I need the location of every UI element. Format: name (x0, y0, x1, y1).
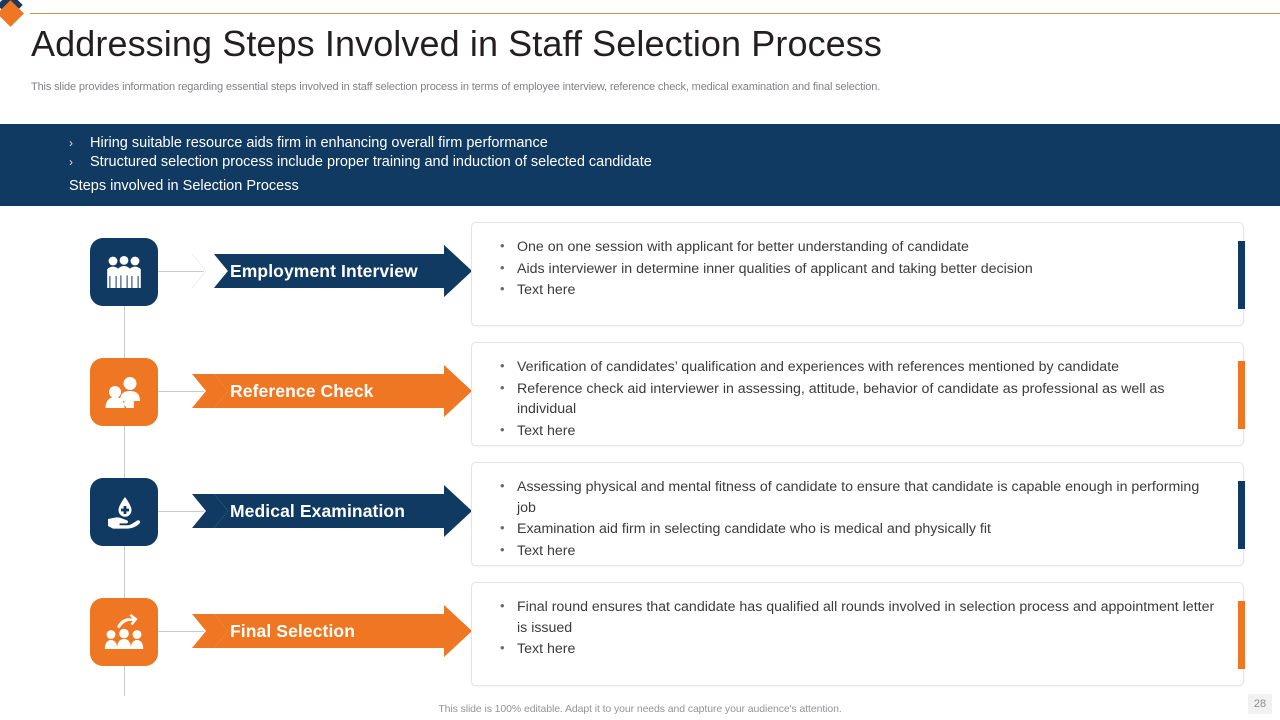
page-title: Addressing Steps Involved in Staff Selec… (31, 23, 882, 65)
step-icon-tile[interactable] (90, 238, 158, 306)
two-people-check-icon (104, 375, 144, 409)
card-accent-bar (1238, 361, 1245, 429)
step-arrow-banner[interactable]: Employment Interview (192, 244, 472, 298)
step-bullet-text: One on one session with applicant for be… (517, 239, 969, 255)
step-bullet-item: •One on one session with applicant for b… (498, 237, 1217, 258)
bullet-dot-icon: • (500, 420, 505, 441)
page-number-badge: 28 (1248, 694, 1272, 714)
step-detail-card: •Final round ensures that candidate has … (471, 582, 1244, 686)
step-detail-card: •Verification of candidates’ qualificati… (471, 342, 1244, 446)
process-step-row: Final Selection •Final round ensures tha… (0, 582, 1280, 702)
step-label: Employment Interview (230, 244, 418, 298)
bullet-dot-icon: • (500, 258, 505, 279)
step-icon-tile[interactable] (90, 478, 158, 546)
step-bullet-item: •Final round ensures that candidate has … (498, 597, 1217, 638)
step-bullet-item: •Examination aid firm in selecting candi… (498, 519, 1217, 540)
banner-bullet-item: › Structured selection process include p… (68, 153, 652, 172)
step-icon-tile[interactable] (90, 358, 158, 426)
three-people-icon (104, 255, 144, 289)
chevron-right-icon: › (69, 153, 73, 172)
footer-note: This slide is 100% editable. Adapt it to… (0, 703, 1280, 715)
card-accent-bar (1238, 241, 1245, 309)
step-bullet-text: Final round ensures that candidate has q… (517, 599, 1214, 636)
step-bullet-item: •Text here (498, 421, 1217, 442)
bullet-dot-icon: • (500, 518, 505, 539)
step-label: Medical Examination (230, 484, 405, 538)
step-bullet-list: •Final round ensures that candidate has … (472, 583, 1243, 660)
header-accent-rule (30, 13, 1280, 14)
step-bullet-text: Examination aid firm in selecting candid… (517, 521, 991, 537)
step-detail-card: •One on one session with applicant for b… (471, 222, 1244, 326)
process-step-row: Reference Check •Verification of candida… (0, 342, 1280, 462)
step-bullet-item: •Text here (498, 280, 1217, 301)
banner-bullet-list: › Hiring suitable resource aids firm in … (68, 134, 652, 172)
diamond-logo-icon (0, 0, 30, 28)
step-bullet-item: •Aids interviewer in determine inner qua… (498, 259, 1217, 280)
card-accent-bar (1238, 601, 1245, 669)
banner-bullet-text: Structured selection process include pro… (90, 154, 652, 170)
step-bullet-text: Reference check aid interviewer in asses… (517, 381, 1164, 418)
step-bullet-list: •Assessing physical and mental fitness o… (472, 463, 1243, 561)
step-bullet-text: Verification of candidates’ qualificatio… (517, 359, 1119, 375)
step-bullet-list: •Verification of candidates’ qualificati… (472, 343, 1243, 441)
bullet-dot-icon: • (500, 279, 505, 300)
process-step-row: Employment Interview •One on one session… (0, 222, 1280, 342)
step-arrow-banner[interactable]: Final Selection (192, 604, 472, 658)
intro-banner: › Hiring suitable resource aids firm in … (0, 124, 1280, 206)
bullet-dot-icon: • (500, 236, 505, 257)
step-bullet-text: Text here (517, 423, 575, 439)
bullet-dot-icon: • (500, 540, 505, 561)
bullet-dot-icon: • (500, 356, 505, 377)
card-accent-bar (1238, 481, 1245, 549)
people-growth-arrow-icon (103, 614, 145, 650)
step-bullet-list: •One on one session with applicant for b… (472, 223, 1243, 301)
process-step-row: Medical Examination •Assessing physical … (0, 462, 1280, 582)
bullet-dot-icon: • (500, 476, 505, 497)
chevron-right-icon: › (69, 134, 73, 153)
step-arrow-banner[interactable]: Medical Examination (192, 484, 472, 538)
step-bullet-item: •Text here (498, 541, 1217, 562)
bullet-dot-icon: • (500, 596, 505, 617)
step-bullet-text: Text here (517, 282, 575, 298)
step-bullet-text: Aids interviewer in determine inner qual… (517, 261, 1033, 277)
step-label: Reference Check (230, 364, 374, 418)
step-bullet-text: Assessing physical and mental fitness of… (517, 479, 1199, 516)
page-subtitle: This slide provides information regardin… (31, 81, 880, 93)
step-label: Final Selection (230, 604, 355, 658)
bullet-dot-icon: • (500, 638, 505, 659)
banner-subheading: Steps involved in Selection Process (69, 178, 299, 194)
step-arrow-banner[interactable]: Reference Check (192, 364, 472, 418)
process-flow: Employment Interview •One on one session… (0, 206, 1280, 686)
step-bullet-item: •Reference check aid interviewer in asse… (498, 379, 1217, 420)
bullet-dot-icon: • (500, 378, 505, 399)
step-icon-tile[interactable] (90, 598, 158, 666)
step-bullet-text: Text here (517, 543, 575, 559)
step-bullet-item: •Assessing physical and mental fitness o… (498, 477, 1217, 518)
step-bullet-item: •Text here (498, 639, 1217, 660)
banner-bullet-item: › Hiring suitable resource aids firm in … (68, 134, 652, 153)
hand-blood-drop-icon (104, 495, 144, 529)
step-bullet-text: Text here (517, 641, 575, 657)
step-detail-card: •Assessing physical and mental fitness o… (471, 462, 1244, 566)
banner-bullet-text: Hiring suitable resource aids firm in en… (90, 135, 548, 151)
step-bullet-item: •Verification of candidates’ qualificati… (498, 357, 1217, 378)
